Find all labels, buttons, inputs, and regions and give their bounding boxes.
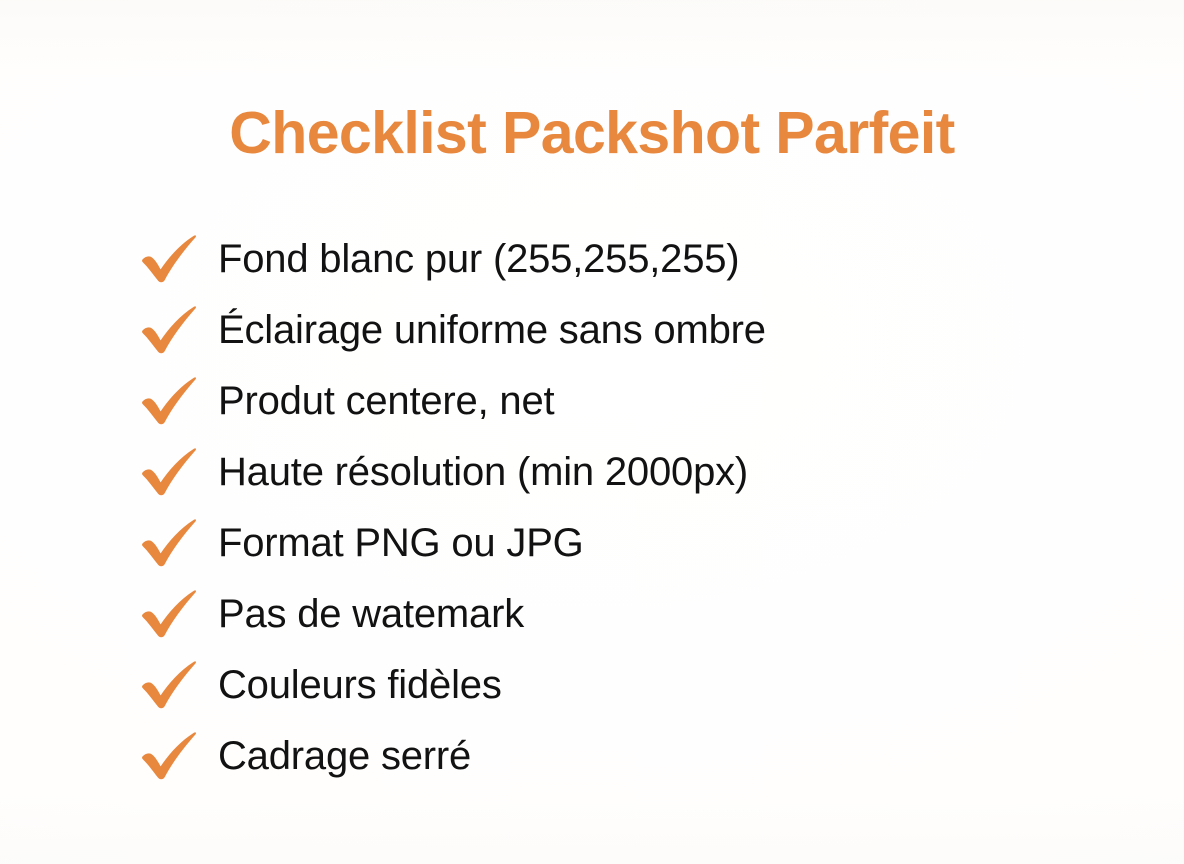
check-mark-icon <box>138 231 200 287</box>
slide-canvas: Checklist Packshot Parfeit Fond blanc pu… <box>0 0 1184 864</box>
check-mark-icon <box>138 373 200 429</box>
list-item-label: Haute résolution (min 2000px) <box>218 451 1038 493</box>
page-title: Checklist Packshot Parfeit <box>0 104 1184 163</box>
list-item-label: Format PNG ou JPG <box>218 522 1038 564</box>
list-item: Couleurs fidèles <box>138 649 1038 720</box>
check-mark-icon <box>138 657 200 713</box>
list-item: Éclairage uniforme sans ombre <box>138 294 1038 365</box>
list-item: Fond blanc pur (255,255,255) <box>138 223 1038 294</box>
list-item-label: Cadrage serré <box>218 735 1038 777</box>
list-item-label: Pas de watemark <box>218 593 1038 635</box>
check-mark-icon <box>138 302 200 358</box>
list-item: Haute résolution (min 2000px) <box>138 436 1038 507</box>
list-item: Produt centere, net <box>138 365 1038 436</box>
list-item-label: Fond blanc pur (255,255,255) <box>218 238 1038 280</box>
check-mark-icon <box>138 586 200 642</box>
checklist: Fond blanc pur (255,255,255) Éclairage u… <box>138 223 1038 791</box>
check-mark-icon <box>138 444 200 500</box>
list-item: Format PNG ou JPG <box>138 507 1038 578</box>
list-item-label: Éclairage uniforme sans ombre <box>218 309 1038 351</box>
check-mark-icon <box>138 515 200 571</box>
list-item-label: Produt centere, net <box>218 380 1038 422</box>
check-mark-icon <box>138 728 200 784</box>
list-item-label: Couleurs fidèles <box>218 664 1038 706</box>
list-item: Pas de watemark <box>138 578 1038 649</box>
list-item: Cadrage serré <box>138 720 1038 791</box>
